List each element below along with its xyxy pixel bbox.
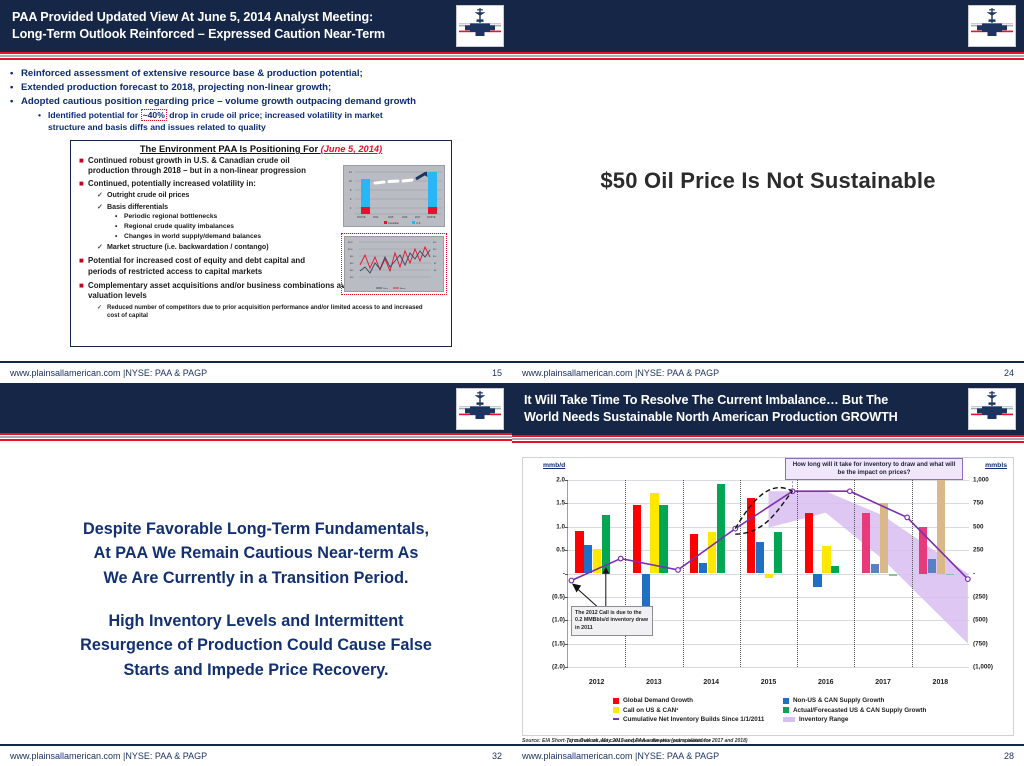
footer-page-number: 24 xyxy=(1004,368,1014,378)
footer-page-number: 32 xyxy=(492,751,502,761)
env-item-text: Periodic regional bottlenecks xyxy=(124,213,217,222)
bullet-text: Adopted cautious position regarding pric… xyxy=(21,95,416,109)
x-axis-tick: 2013 xyxy=(646,679,662,686)
sub-bullet-post: drop in crude oil price; increased volat… xyxy=(167,110,383,120)
chart-plot-area: 2.01,0001.57501.05000.5250--(0.5)(250)(1… xyxy=(567,480,969,668)
legend-item-global-demand: Global Demand Growth xyxy=(561,696,783,705)
svg-text:$60: $60 xyxy=(350,263,354,265)
price-basis-line-thumbnail: $120$100$80 $60$40$20 $20$15$10 $5$0 Pri… xyxy=(341,233,447,295)
bullet-item: •Adopted cautious position regarding pri… xyxy=(10,95,504,109)
svg-text:10: 10 xyxy=(349,180,352,183)
svg-text:2015: 2015 xyxy=(388,216,394,219)
y-axis-tick-right: (500) xyxy=(973,617,988,624)
y-axis-tick-left: 1.5 xyxy=(556,500,565,507)
y-axis-tick-right: (1,000) xyxy=(973,664,993,671)
sub-bullet-pre: Identified potential for xyxy=(48,110,141,120)
svg-text:U.S.: U.S. xyxy=(416,221,421,225)
environment-box-title-text: The Environment PAA Is Positioning For xyxy=(140,144,321,154)
message-line: At PAA We Remain Cautious Near-term As xyxy=(0,541,512,566)
env-item-text: Regional crude quality imbalances xyxy=(124,223,234,232)
footer-page-number: 28 xyxy=(1004,751,1014,761)
svg-text:2018YE: 2018YE xyxy=(427,216,436,219)
slide-15-header-line2: Long-Term Outlook Reinforced – Expressed… xyxy=(12,26,442,43)
bullet-dot-icon: • xyxy=(115,233,124,242)
x-axis-tick: 2018 xyxy=(933,679,949,686)
y-axis-tick-right: 250 xyxy=(973,547,984,554)
legend-item-cumulative-inventory: Cumulative Net Inventory Builds Since 1/… xyxy=(561,715,783,724)
y-axis-tick-left: (0.5) xyxy=(552,593,565,600)
valve-logo-icon xyxy=(971,391,1013,427)
slide-24: $50 Oil Price Is Not Sustainable www.pla… xyxy=(512,0,1024,383)
sub-bullet-item: • Identified potential for ~40% drop in … xyxy=(10,109,504,133)
env-item-text: Potential for increased cost of equity a… xyxy=(88,256,318,277)
slide-15: PAA Provided Updated View At June 5, 201… xyxy=(0,0,512,383)
y-axis-tick-left: (1.5) xyxy=(552,640,565,647)
inventory-line-layer xyxy=(568,480,969,667)
bullet-dot-icon: • xyxy=(10,95,21,109)
y-axis-tick-left: (2.0) xyxy=(552,664,565,671)
bullet-dot-icon: • xyxy=(115,213,124,222)
y-axis-tick-right: (750) xyxy=(973,640,988,647)
slide-32-accent-stripes xyxy=(0,433,512,442)
slide-24-title: $50 Oil Price Is Not Sustainable xyxy=(512,168,1024,194)
slide-28-header: It Will Take Time To Resolve The Current… xyxy=(512,383,1024,435)
paa-valve-logo xyxy=(456,388,504,430)
bullet-dot-icon: • xyxy=(10,81,21,95)
slide-32: Despite Favorable Long-Term Fundamentals… xyxy=(0,383,512,766)
left-axis-unit-label: mmb/d xyxy=(543,462,565,469)
paa-valve-logo xyxy=(456,5,504,47)
legend-swatch-icon xyxy=(783,707,789,713)
svg-text:$10: $10 xyxy=(433,256,437,258)
svg-text:$15: $15 xyxy=(433,249,437,251)
svg-text:$80: $80 xyxy=(350,256,354,258)
inventory-question-callout: How long will it take for inventory to d… xyxy=(785,458,963,480)
footer-site: www.plainsallamerican.com |NYSE: PAA & P… xyxy=(10,368,207,378)
legend-item-nonus-supply: Non-US & CAN Supply Growth xyxy=(783,696,1005,705)
thumbnail-chart-b: $120$100$80 $60$40$20 $20$15$10 $5$0 Pri… xyxy=(345,237,445,293)
svg-text:$40: $40 xyxy=(350,270,354,272)
sub-bullet-line2: structure and basis diffs and issues rel… xyxy=(48,122,266,132)
bullet-item: •Extended production forecast to 2018, p… xyxy=(10,81,504,95)
check-icon: ✓ xyxy=(97,203,107,212)
svg-text:2014: 2014 xyxy=(373,216,379,219)
slide-32-header xyxy=(0,383,512,433)
footer-page-number: 15 xyxy=(492,368,502,378)
slide-24-footer: www.plainsallamerican.com |NYSE: PAA & P… xyxy=(512,361,1024,383)
x-axis-tick: 2015 xyxy=(761,679,777,686)
inventory-line-marker xyxy=(966,577,971,582)
footer-site: www.plainsallamerican.com |NYSE: PAA & P… xyxy=(522,368,719,378)
bullet-item: •Reinforced assessment of extensive reso… xyxy=(10,67,504,81)
valve-logo-icon xyxy=(459,8,501,44)
thumbnail-chart-a: 2013YE20142015 201620172018YE 12108 64 C… xyxy=(344,166,444,226)
check-icon: ✓ xyxy=(97,191,107,200)
slide-15-header: PAA Provided Updated View At June 5, 201… xyxy=(0,0,512,52)
right-axis-unit-label: mmbls xyxy=(985,462,1007,469)
2012-call-note: The 2012 Call is due to the 0.2 MMBbls/d… xyxy=(571,606,653,636)
svg-text:$0: $0 xyxy=(434,270,437,272)
svg-text:$5: $5 xyxy=(434,263,437,265)
slide-28-footer: www.plainsallamerican.com |NYSE: PAA & P… xyxy=(512,744,1024,766)
env-item-text: Basis differentials xyxy=(107,203,168,212)
valve-logo-icon xyxy=(459,391,501,427)
x-axis-tick: 2012 xyxy=(589,679,605,686)
legend-line-icon xyxy=(613,718,619,720)
square-bullet-icon: ■ xyxy=(79,179,88,190)
imbalance-inventory-chart: mmb/d mmbls 2.01,0001.57501.05000.5250--… xyxy=(522,457,1014,736)
y-axis-tick-left: 1.0 xyxy=(556,523,565,530)
slide-28-accent-stripes xyxy=(512,435,1024,444)
slide-32-footer: www.plainsallamerican.com |NYSE: PAA & P… xyxy=(0,744,512,766)
y-axis-tick-left: 2.0 xyxy=(556,477,565,484)
svg-text:12: 12 xyxy=(349,171,352,174)
gridline xyxy=(568,667,969,668)
y-axis-tick-right: 1,000 xyxy=(973,477,989,484)
svg-text:8: 8 xyxy=(350,189,352,192)
message-line: We Are Currently in a Transition Period. xyxy=(0,566,512,591)
cumulative-inventory-line xyxy=(571,491,967,580)
svg-text:Basis: Basis xyxy=(400,288,406,290)
check-icon: ✓ xyxy=(97,243,107,252)
svg-text:4: 4 xyxy=(350,207,352,210)
environment-box-title-date: (June 5, 2014) xyxy=(321,144,383,154)
slide-15-header-line1: PAA Provided Updated View At June 5, 201… xyxy=(12,9,442,26)
bullet-text: Reinforced assessment of extensive resou… xyxy=(21,67,363,81)
legend-item-call-on-us-can: Call on US & CAN¹ xyxy=(561,705,783,714)
svg-text:Price: Price xyxy=(383,287,389,290)
legend-swatch-icon xyxy=(613,698,619,704)
legend-swatch-icon xyxy=(613,707,619,713)
x-axis-tick: 2014 xyxy=(703,679,719,686)
paa-valve-logo xyxy=(968,5,1016,47)
env-item-text: Continued, potentially increased volatil… xyxy=(88,179,324,190)
legend-item-inventory-range: Inventory Range xyxy=(783,715,1005,724)
bullet-dot-icon: • xyxy=(115,223,124,232)
x-axis-tick: 2016 xyxy=(818,679,834,686)
svg-text:$120: $120 xyxy=(348,242,353,244)
footer-site: www.plainsallamerican.com |NYSE: PAA & P… xyxy=(522,751,719,761)
svg-text:2016: 2016 xyxy=(402,216,408,219)
env-item: ✓Reduced number of competitors due to pr… xyxy=(71,303,451,321)
svg-text:2017: 2017 xyxy=(415,216,421,219)
svg-text:Canadian: Canadian xyxy=(388,221,400,225)
square-bullet-icon: ■ xyxy=(79,156,88,177)
svg-text:$100: $100 xyxy=(348,249,353,251)
inventory-line-marker xyxy=(848,489,853,494)
chart-legend: Global Demand Growth Non-US & CAN Supply… xyxy=(561,696,1005,724)
svg-text:6: 6 xyxy=(350,198,352,201)
valve-logo-icon xyxy=(971,8,1013,44)
footer-site: www.plainsallamerican.com |NYSE: PAA & P… xyxy=(10,751,207,761)
bullet-text: Extended production forecast to 2018, pr… xyxy=(21,81,331,95)
note-arrowhead xyxy=(602,567,609,574)
price-drop-highlight: ~40% xyxy=(141,109,167,121)
bullet-dot-icon: • xyxy=(10,67,21,81)
legend-item-actual-forecast-supply: Actual/Forecasted US & CAN Supply Growth xyxy=(783,705,1005,714)
svg-text:2013YE: 2013YE xyxy=(357,216,366,219)
paa-valve-logo xyxy=(968,388,1016,430)
inventory-line-marker xyxy=(905,515,910,520)
y-axis-tick-right: (250) xyxy=(973,593,988,600)
y-axis-tick-right: 500 xyxy=(973,523,984,530)
message-line: Resurgence of Production Could Cause Fal… xyxy=(0,633,512,658)
slide-28-header-title: It Will Take Time To Resolve The Current… xyxy=(524,383,954,435)
env-item-text: Changes in world supply/demand balances xyxy=(124,233,261,242)
y-axis-tick-right: - xyxy=(973,570,975,577)
y-axis-tick-left: (1.0) xyxy=(552,617,565,624)
slide-15-header-title: PAA Provided Updated View At June 5, 201… xyxy=(12,0,442,52)
slide-24-header xyxy=(512,0,1024,52)
spacer xyxy=(0,591,512,609)
legend-swatch-icon xyxy=(783,717,795,722)
environment-positioning-box: The Environment PAA Is Positioning For (… xyxy=(70,140,452,347)
environment-box-title: The Environment PAA Is Positioning For (… xyxy=(71,141,451,155)
inventory-line-marker xyxy=(618,556,623,561)
slide-28: It Will Take Time To Resolve The Current… xyxy=(512,383,1024,766)
tick-mark xyxy=(565,667,568,668)
production-stack-bar-thumbnail: 2013YE20142015 201620172018YE 12108 64 C… xyxy=(343,165,445,227)
square-bullet-icon: ■ xyxy=(79,256,88,277)
message-line: Despite Favorable Long-Term Fundamentals… xyxy=(0,517,512,542)
svg-text:$20: $20 xyxy=(350,277,354,279)
slide-15-bullet-list: •Reinforced assessment of extensive reso… xyxy=(0,61,512,133)
message-line: Starts and Impede Price Recovery. xyxy=(0,658,512,683)
slide-32-message: Despite Favorable Long-Term Fundamentals… xyxy=(0,457,512,742)
slide-28-header-line2: World Needs Sustainable North American P… xyxy=(524,409,954,426)
square-bullet-icon: ■ xyxy=(79,281,88,302)
env-item-text: Continued robust growth in U.S. & Canadi… xyxy=(88,156,324,177)
env-item-text: Reduced number of competitors due to pri… xyxy=(107,304,425,320)
slide-15-accent-stripes xyxy=(0,52,512,61)
message-line: High Inventory Levels and Intermittent xyxy=(0,609,512,634)
slide-15-footer: www.plainsallamerican.com |NYSE: PAA & P… xyxy=(0,361,512,383)
env-item-text: Market structure (i.e. backwardation / c… xyxy=(107,243,269,252)
svg-text:$20: $20 xyxy=(433,242,437,244)
inventory-line-marker xyxy=(676,568,681,573)
legend-swatch-icon xyxy=(783,698,789,704)
inventory-line-marker xyxy=(569,578,574,583)
x-axis-tick: 2017 xyxy=(875,679,891,686)
slide-24-accent-stripes xyxy=(512,52,1024,61)
sub-bullet-text: Identified potential for ~40% drop in cr… xyxy=(48,109,383,133)
bullet-dot-icon: • xyxy=(38,109,48,133)
slide-28-header-line1: It Will Take Time To Resolve The Current… xyxy=(524,392,954,409)
check-icon: ✓ xyxy=(97,304,107,320)
y-axis-tick-right: 750 xyxy=(973,500,984,507)
y-axis-tick-left: 0.5 xyxy=(556,547,565,554)
env-item-text: Outright crude oil prices xyxy=(107,191,189,200)
